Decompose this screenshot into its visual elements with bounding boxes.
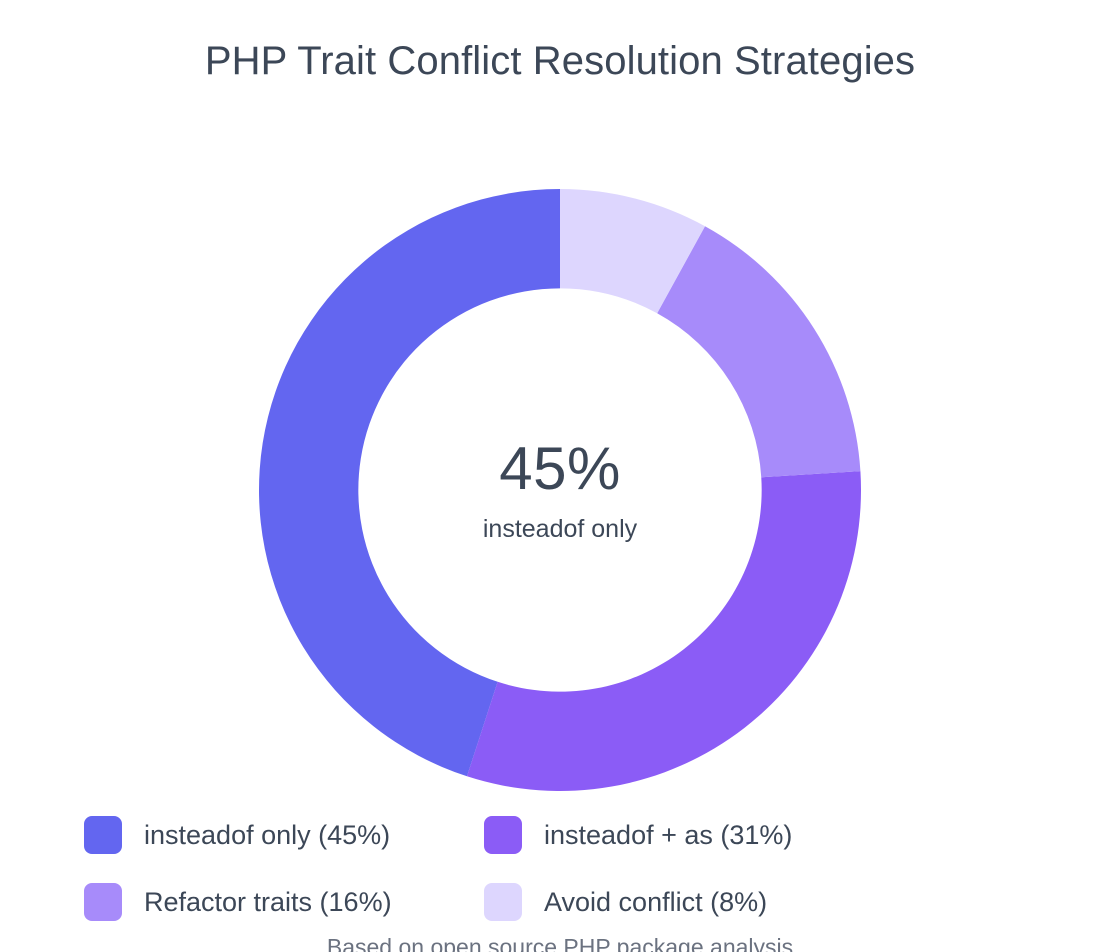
donut-chart: 45% insteadof only <box>259 189 861 791</box>
legend-item[interactable]: Refactor traits (16%) <box>84 879 484 925</box>
legend-label: insteadof + as (31%) <box>544 822 792 849</box>
legend-swatch <box>484 883 522 921</box>
legend-label: insteadof only (45%) <box>144 822 390 849</box>
footer-note: Based on open source PHP package analysi… <box>0 934 1120 952</box>
legend-swatch <box>84 883 122 921</box>
legend-label: Refactor traits (16%) <box>144 889 392 916</box>
donut-slice[interactable] <box>657 226 860 477</box>
chart-legend: insteadof only (45%)insteadof + as (31%)… <box>84 812 964 946</box>
legend-swatch <box>84 816 122 854</box>
donut-slice[interactable] <box>467 471 861 791</box>
donut-svg <box>259 189 861 791</box>
legend-item[interactable]: insteadof only (45%) <box>84 812 484 858</box>
chart-page: PHP Trait Conflict Resolution Strategies… <box>0 0 1120 952</box>
legend-item[interactable]: insteadof + as (31%) <box>484 812 884 858</box>
legend-label: Avoid conflict (8%) <box>544 889 767 916</box>
donut-slice-group <box>259 189 861 791</box>
page-title: PHP Trait Conflict Resolution Strategies <box>0 38 1120 84</box>
legend-item[interactable]: Avoid conflict (8%) <box>484 879 884 925</box>
legend-swatch <box>484 816 522 854</box>
